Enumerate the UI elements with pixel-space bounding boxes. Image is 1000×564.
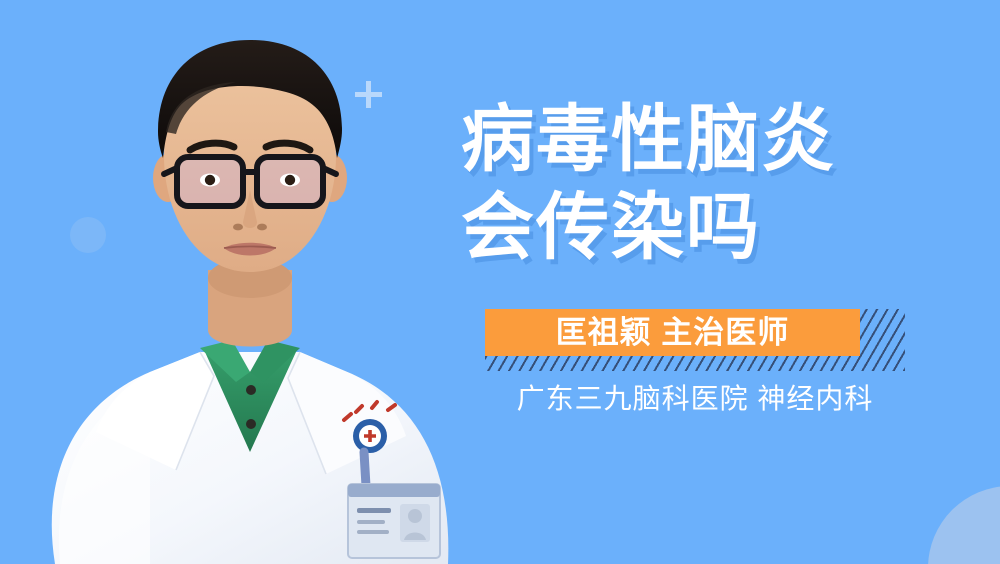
doctor-badge: 匡祖颖 主治医师 — [485, 309, 905, 371]
badge-label: 匡祖颖 主治医师 — [485, 309, 860, 356]
poster-canvas: 病毒性脑炎 会传染吗 匡祖颖 主治医师 广东三九脑科医院 神经内科 — [0, 0, 1000, 564]
headline-line-1: 病毒性脑炎 — [461, 96, 931, 184]
doctor-portrait — [0, 0, 470, 564]
affiliation-label: 广东三九脑科医院 神经内科 — [485, 381, 905, 417]
decorative-circle-large — [928, 486, 1000, 564]
headline-line-2: 会传染吗 — [461, 184, 931, 272]
headline: 病毒性脑炎 会传染吗 — [461, 96, 931, 272]
